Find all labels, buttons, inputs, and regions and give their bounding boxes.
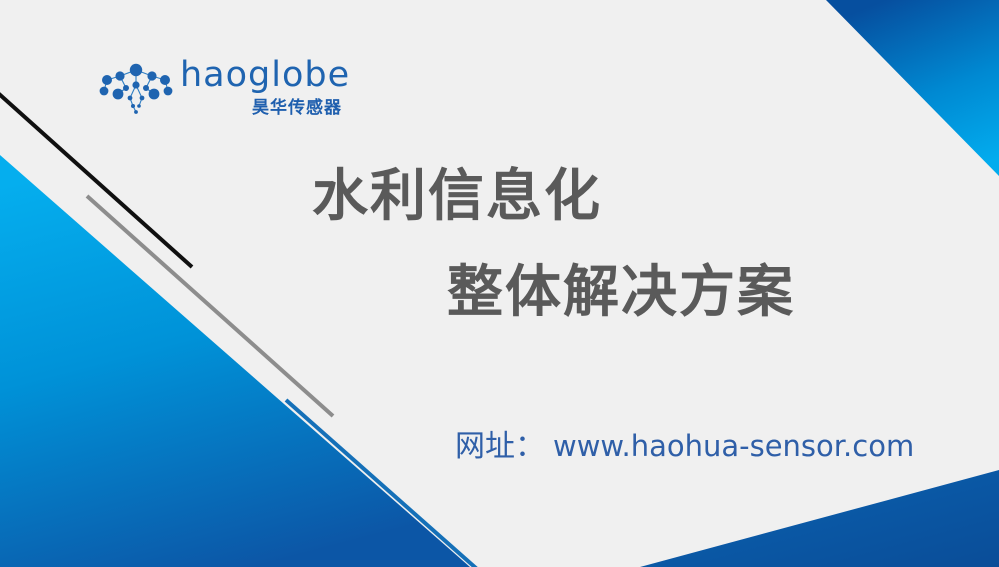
bottom-right-blue-triangle (640, 470, 999, 567)
network-dots-logo-icon (96, 60, 176, 116)
company-logo: haoglobe 昊华传感器 (96, 56, 322, 124)
website-row: 网址： www.haohua-sensor.com (455, 421, 914, 465)
top-right-blue-triangle (826, 0, 999, 176)
gray-diagonal-line (87, 196, 333, 416)
logo-subtitle: 昊华传感器 (200, 100, 342, 117)
logo-wordmark: haoglobe (180, 58, 350, 93)
page-title-line-1: 水利信息化 (312, 168, 602, 227)
presentation-title-slide: haoglobe 昊华传感器 水利信息化 整体解决方案 网址： www.haoh… (0, 0, 999, 567)
website-url[interactable]: www.haohua-sensor.com (553, 429, 914, 463)
website-label: 网址： (455, 421, 545, 465)
page-title-line-2: 整体解决方案 (447, 264, 795, 323)
